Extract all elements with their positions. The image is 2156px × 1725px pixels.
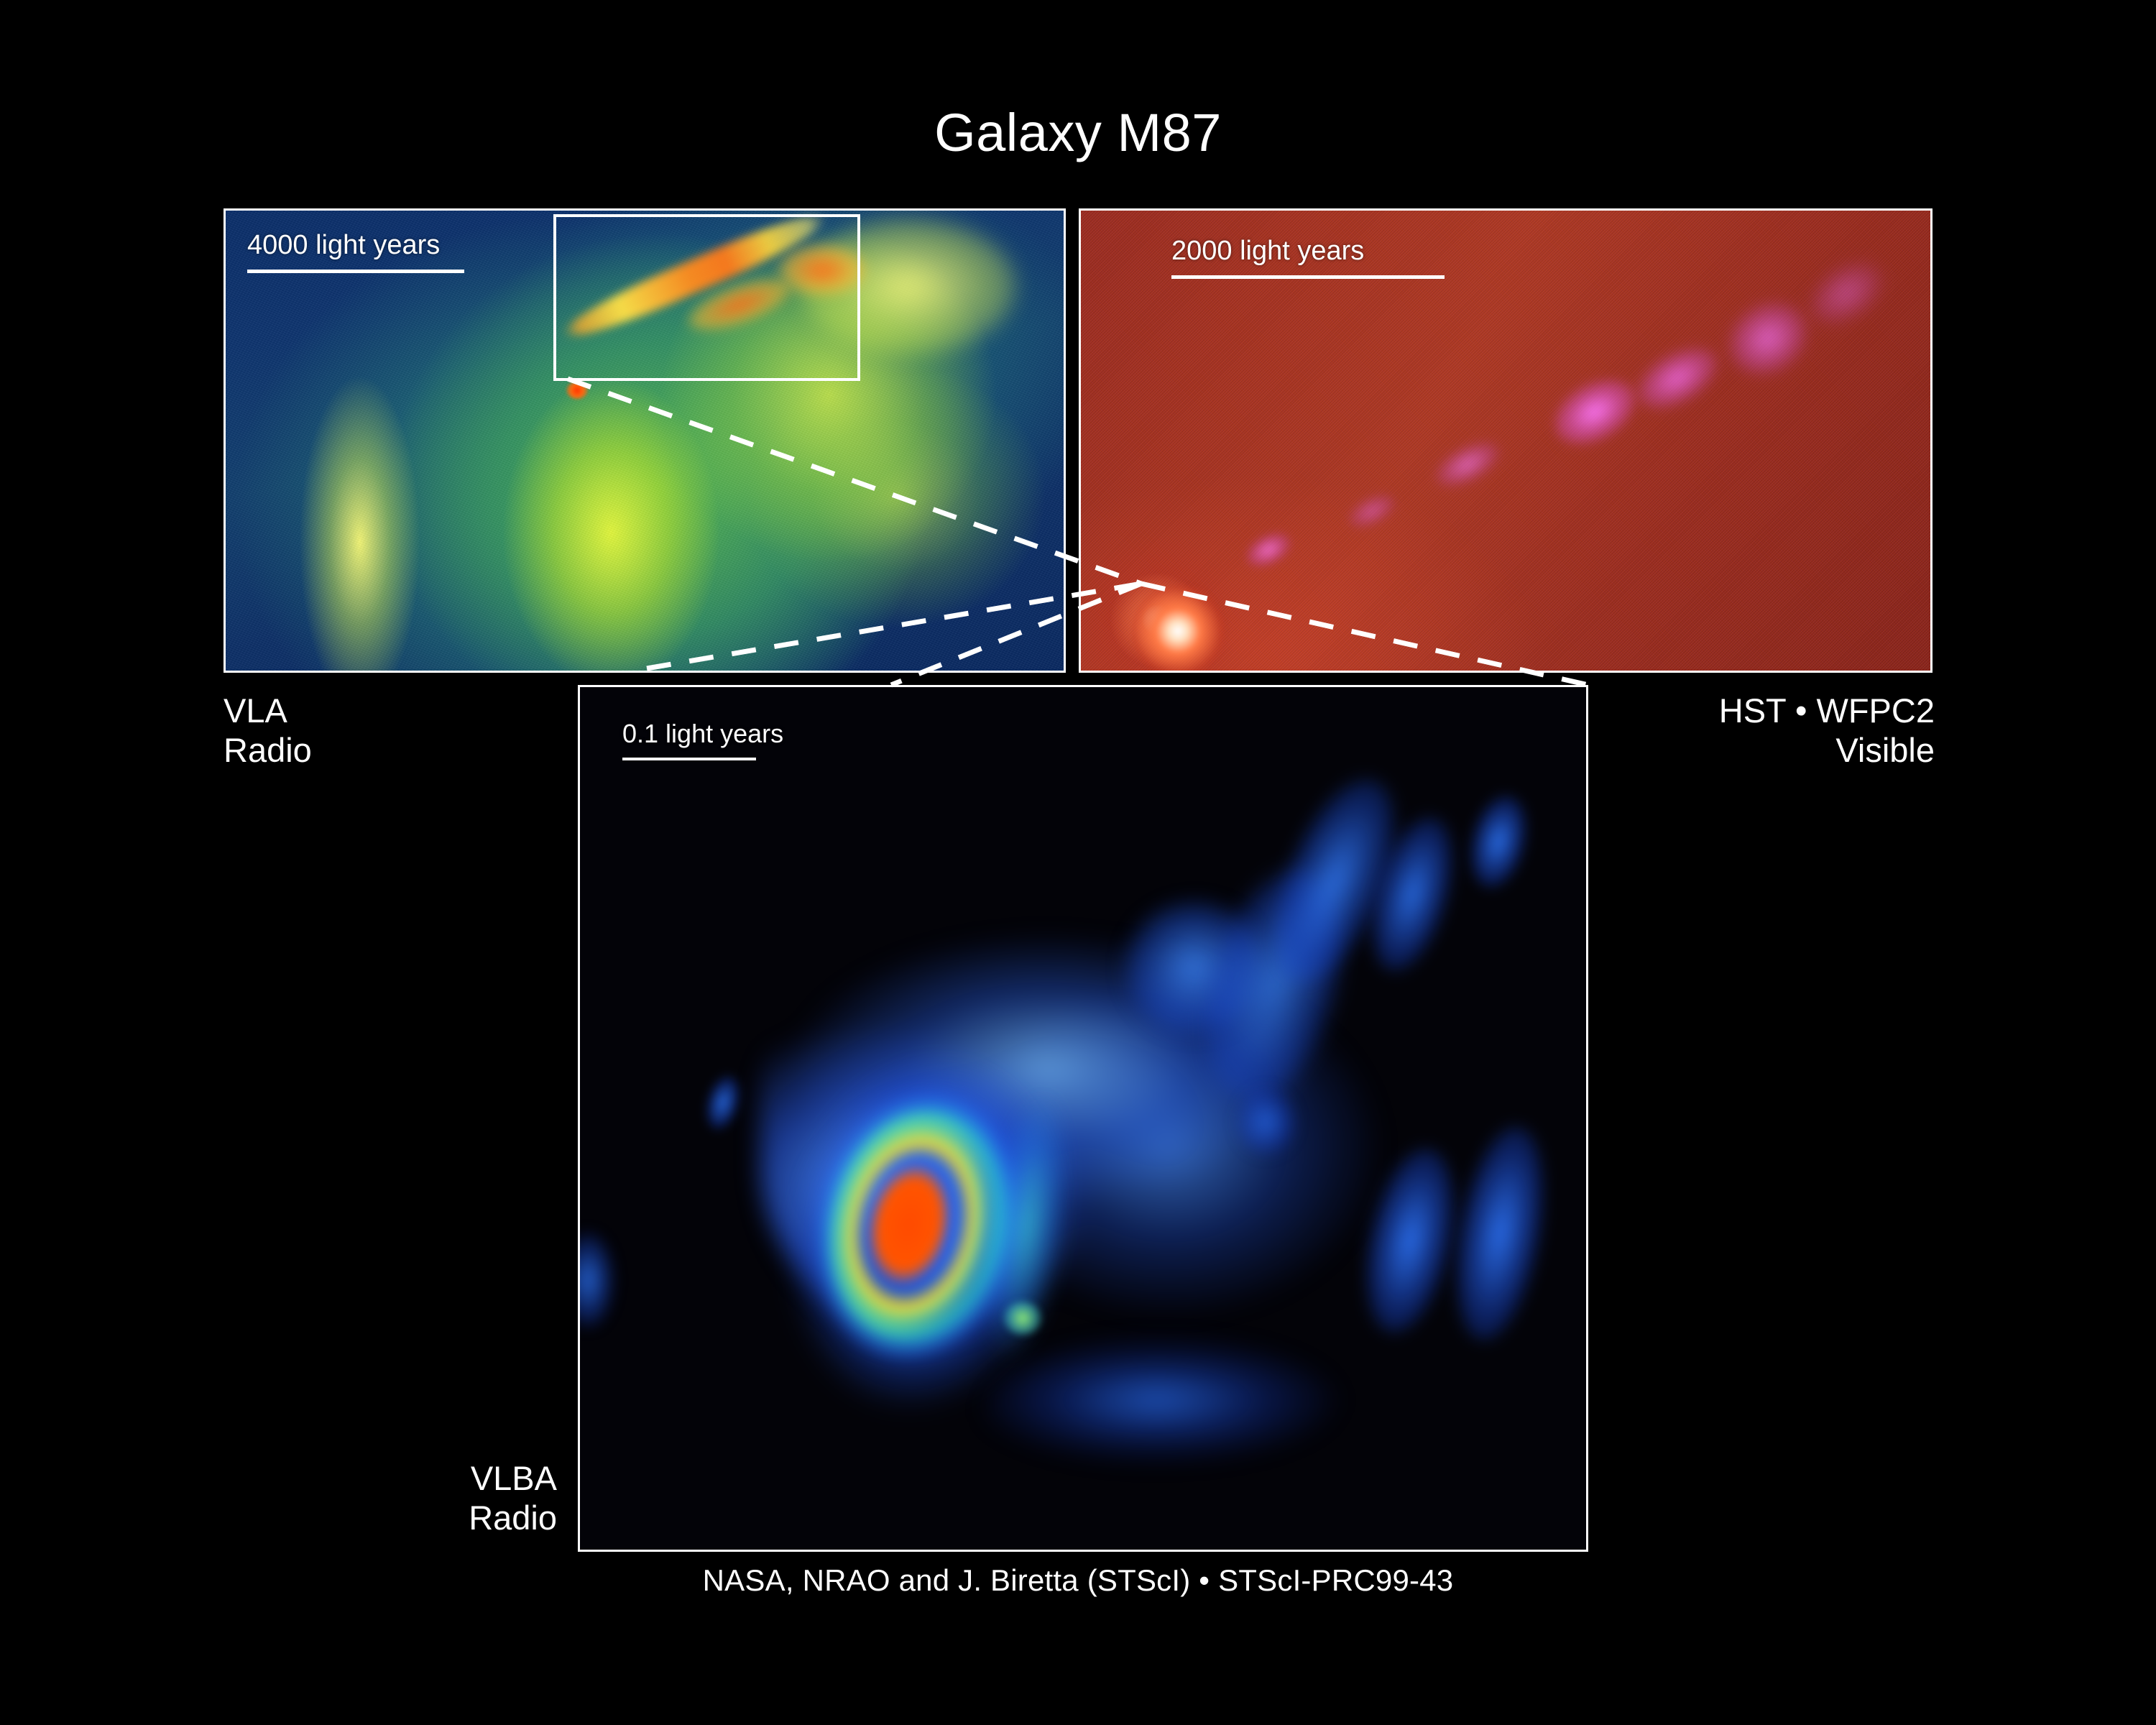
vlba-jet-knot-8 bbox=[1238, 1090, 1295, 1154]
scale-bar-hst-rule bbox=[1171, 275, 1445, 279]
panel-vla-radio[interactable] bbox=[224, 208, 1066, 673]
vla-nucleus-core bbox=[566, 382, 588, 399]
credit-line: NASA, NRAO and J. Biretta (STScI) • STSc… bbox=[0, 1563, 2156, 1598]
scale-bar-vla: 4000 light years bbox=[247, 230, 464, 273]
hst-jet-knot-1 bbox=[1240, 526, 1296, 574]
vlba-jet-knot-5 bbox=[1462, 790, 1534, 893]
vlba-jet-body bbox=[760, 903, 1442, 1391]
scale-bar-vla-label: 4000 light years bbox=[247, 230, 464, 261]
hst-jet-knot-3 bbox=[1429, 433, 1506, 495]
panel-label-vla: VLA Radio bbox=[224, 691, 312, 770]
vlba-cyan-ridge bbox=[941, 1068, 1111, 1385]
scale-bar-vlba: 0.1 light years bbox=[622, 719, 783, 760]
scale-bar-vla-rule bbox=[247, 270, 464, 273]
hst-nucleus-flare bbox=[1131, 584, 1225, 673]
vlba-jet-knot-2 bbox=[1182, 855, 1365, 1116]
hst-jet-knot-6 bbox=[1716, 289, 1820, 389]
vlba-jet-knot-7 bbox=[1442, 1121, 1557, 1347]
hst-jet-knot-2 bbox=[1344, 488, 1401, 535]
vlba-speck-edge bbox=[578, 1233, 613, 1327]
vlba-jet-knot-6 bbox=[1352, 1141, 1468, 1340]
scale-bar-hst-label: 2000 light years bbox=[1171, 236, 1445, 267]
vlba-core-green-ring bbox=[767, 1053, 1069, 1399]
hst-jet-knot-7 bbox=[1800, 250, 1893, 336]
vlba-jet-knot-3 bbox=[1251, 764, 1419, 999]
vlba-jet-lower-tail bbox=[982, 1334, 1370, 1499]
vla-inset-highlight-box[interactable] bbox=[553, 214, 860, 381]
vlba-speck-left bbox=[701, 1072, 745, 1133]
page-title: Galaxy M87 bbox=[0, 106, 2156, 160]
vlba-jet-knot-4 bbox=[1358, 809, 1468, 980]
vlba-core-blue-halo bbox=[723, 1009, 1127, 1458]
hst-jet-knot-4 bbox=[1544, 367, 1646, 457]
panel-vlba-radio[interactable] bbox=[578, 685, 1588, 1552]
panel-label-hst: HST • WFPC2 Visible bbox=[1719, 691, 1935, 770]
hst-jet-knot-5 bbox=[1628, 336, 1727, 420]
vlba-core-yellow-ring bbox=[783, 1072, 1041, 1377]
panel-label-vlba: VLBA Radio bbox=[469, 1459, 557, 1537]
vlba-jet-knot-1 bbox=[1126, 903, 1263, 1032]
vlba-core-orange bbox=[809, 1103, 1009, 1346]
scale-bar-hst: 2000 light years bbox=[1171, 236, 1445, 279]
vlba-green-knot bbox=[1004, 1302, 1041, 1335]
scale-bar-vlba-rule bbox=[622, 758, 756, 760]
scale-bar-vlba-label: 0.1 light years bbox=[622, 719, 783, 749]
